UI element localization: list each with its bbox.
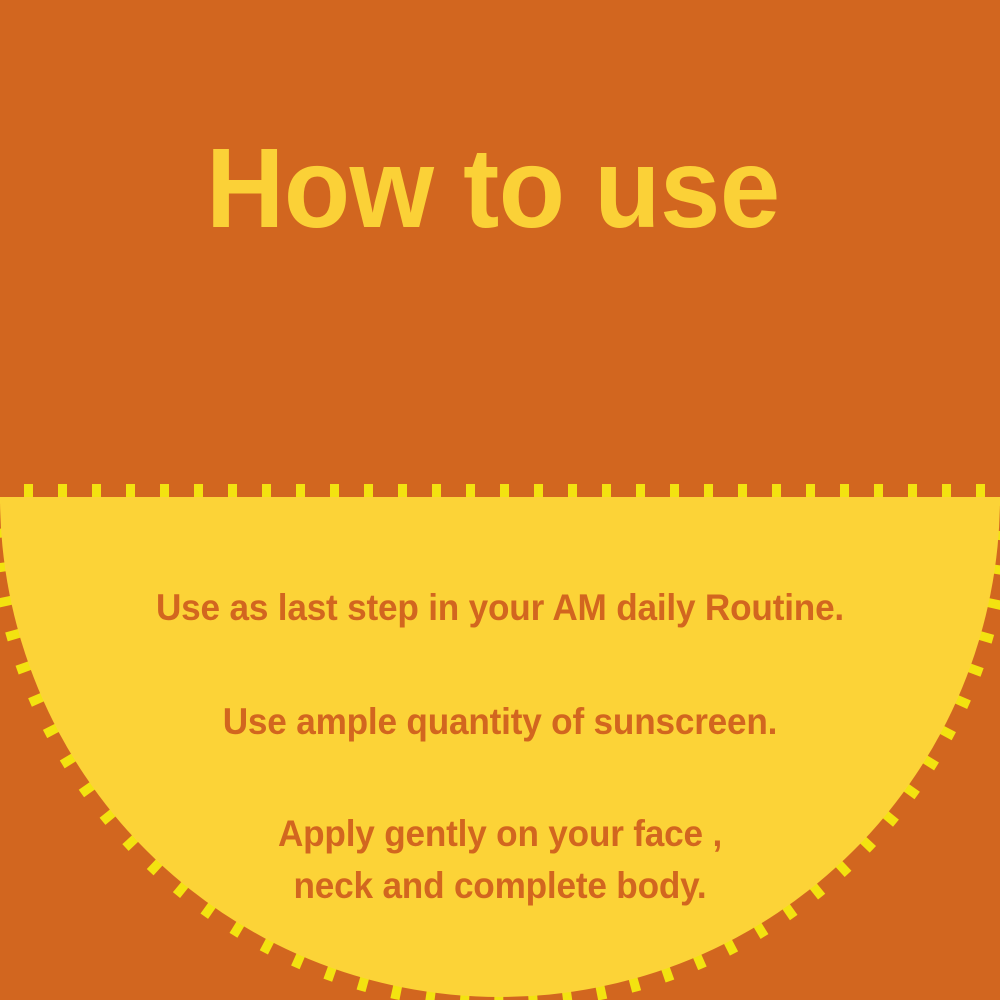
how-to-use-poster: How to use Use as last step in your AM d… [0, 0, 1000, 1000]
semicircle-fill [0, 0, 1000, 997]
semicircle-graphic [0, 0, 1000, 1000]
semicircle-panel [0, 0, 1000, 1000]
